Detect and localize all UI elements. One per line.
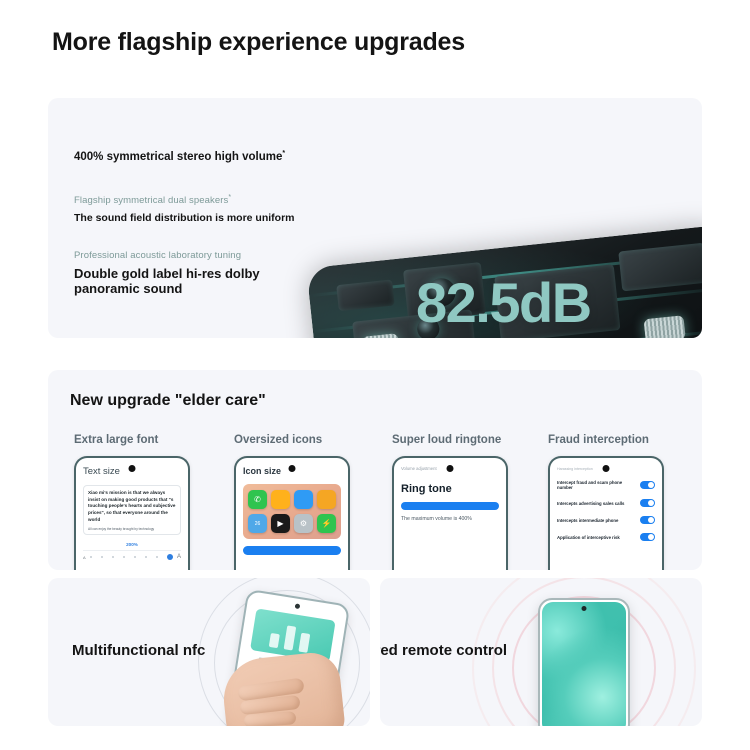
- elder-column-extra-large-font: Extra large font Text size Xiao mi's mis…: [74, 434, 226, 570]
- slider-handle[interactable]: [167, 554, 173, 560]
- app-icon-grid: ✆ 26 ▶ ⚙ ⚡: [243, 484, 341, 539]
- fraud-setting-row[interactable]: Intercepts advertising sales calls: [557, 499, 655, 507]
- elder-column-super-loud-ringtone: Super loud ringtone Volume adjustment Ri…: [392, 434, 544, 570]
- fraud-setting-label: Intercept fraud and scam phone number: [557, 480, 636, 490]
- slider-track[interactable]: [88, 554, 175, 560]
- volume-adjustment-header: Volume adjustment: [401, 466, 447, 471]
- camera-notch-icon: [582, 606, 587, 611]
- phone-mockup-fraud: Harassing interception Intercept fraud a…: [548, 456, 664, 570]
- files-app-icon[interactable]: [317, 490, 336, 509]
- audio-headline: 400% symmetrical stereo high volume*: [74, 150, 285, 163]
- phone-app-icon[interactable]: ✆: [248, 490, 267, 509]
- browser-app-icon[interactable]: [294, 490, 313, 509]
- elder-column-oversized-icons: Oversized icons Icon size ✆ 26 ▶ ⚙ ⚡: [234, 434, 386, 570]
- nfc-label: Multifunctional nfc: [72, 642, 205, 659]
- ringtone-note: The maximum volume is 400%: [401, 516, 499, 522]
- audio-sublabel-1: Flagship symmetrical dual speakers*: [74, 194, 231, 206]
- security-app-icon[interactable]: ⚡: [317, 514, 336, 533]
- toggle-switch[interactable]: [640, 499, 655, 507]
- slider-tick: [145, 556, 147, 558]
- sublabel-1-superscript: *: [228, 194, 231, 201]
- toggle-switch[interactable]: [640, 533, 655, 541]
- audio-subtext-1: The sound field distribution is more uni…: [74, 212, 295, 224]
- elder-care-card: New upgrade "elder care" Extra large fon…: [48, 370, 702, 570]
- text-size-slider[interactable]: A A: [83, 550, 181, 560]
- infrared-phone-illustration: [538, 598, 630, 726]
- large-a-label: A: [177, 554, 181, 560]
- infrared-feature-card: Infrared remote control: [380, 578, 702, 726]
- text-preview-sub: All can enjoy the beauty brought by tech…: [88, 527, 176, 531]
- page-title: More flagship experience upgrades: [52, 28, 465, 57]
- settings-app-icon[interactable]: ⚙: [294, 514, 313, 533]
- slider-tick: [134, 556, 136, 558]
- fraud-setting-label: Intercepts intermediate phone: [557, 518, 618, 523]
- column-label: Oversized icons: [234, 434, 386, 446]
- toggle-switch[interactable]: [640, 516, 655, 524]
- slider-tick: [101, 556, 103, 558]
- text-preview-box: Xiao mi's mission is that we always insi…: [83, 485, 181, 535]
- toggle-switch[interactable]: [640, 481, 655, 489]
- db-value: 82.5dB: [416, 270, 591, 335]
- text-size-header: Text size: [83, 466, 181, 477]
- music-app-icon[interactable]: ▶: [271, 514, 290, 533]
- text-preview-body: Xiao mi's mission is that we always insi…: [88, 490, 176, 523]
- fraud-setting-row[interactable]: Intercept fraud and scam phone number: [557, 480, 655, 490]
- phone-mockup-icon-size: Icon size ✆ 26 ▶ ⚙ ⚡: [234, 456, 350, 570]
- fraud-setting-row[interactable]: Intercepts intermediate phone: [557, 516, 655, 524]
- audio-sublabel-2: Professional acoustic laboratory tuning: [74, 250, 241, 261]
- column-label: Extra large font: [74, 434, 226, 446]
- fraud-setting-row[interactable]: Application of interceptive risk: [557, 533, 655, 541]
- column-label: Super loud ringtone: [392, 434, 544, 446]
- slider-tick: [112, 556, 114, 558]
- camera-notch-icon: [295, 603, 301, 609]
- notes-app-icon[interactable]: [271, 490, 290, 509]
- infrared-label: Infrared remote control: [380, 642, 507, 659]
- slider-tick: [90, 556, 92, 558]
- icon-size-header: Icon size: [243, 466, 341, 476]
- ringtone-volume-slider[interactable]: [401, 502, 499, 510]
- audio-subtext-2: Double gold label hi-res dolby panoramic…: [74, 266, 289, 297]
- slider-tick: [123, 556, 125, 558]
- nfc-feature-card: Multifunctional nfc: [48, 578, 370, 726]
- icon-size-slider[interactable]: [243, 546, 341, 555]
- elder-care-title: New upgrade "elder care": [70, 392, 266, 410]
- headline-superscript: *: [282, 150, 285, 157]
- ringtone-title: Ring tone: [401, 483, 499, 495]
- phone-mockup-text-size: Text size Xiao mi's mission is that we a…: [74, 456, 190, 570]
- small-a-label: A: [83, 555, 86, 560]
- phone-wallpaper: [542, 602, 626, 726]
- phone-mockup-ringtone: Volume adjustment Ring tone The maximum …: [392, 456, 508, 570]
- weather-app-icon[interactable]: 26: [248, 514, 267, 533]
- product-feature-page: More flagship experience upgrades 82.5dB…: [0, 0, 750, 750]
- elder-column-fraud-interception: Fraud interception Harassing interceptio…: [548, 434, 700, 570]
- column-label: Fraud interception: [548, 434, 700, 446]
- slider-tick: [156, 556, 158, 558]
- fraud-setting-label: Intercepts advertising sales calls: [557, 501, 624, 506]
- fraud-setting-label: Application of interceptive risk: [557, 535, 620, 540]
- text-size-percent: 200%: [83, 542, 181, 547]
- fraud-header: Harassing interception: [557, 467, 655, 471]
- audio-feature-card: 82.5dB The noisy environment can be hear…: [48, 98, 702, 338]
